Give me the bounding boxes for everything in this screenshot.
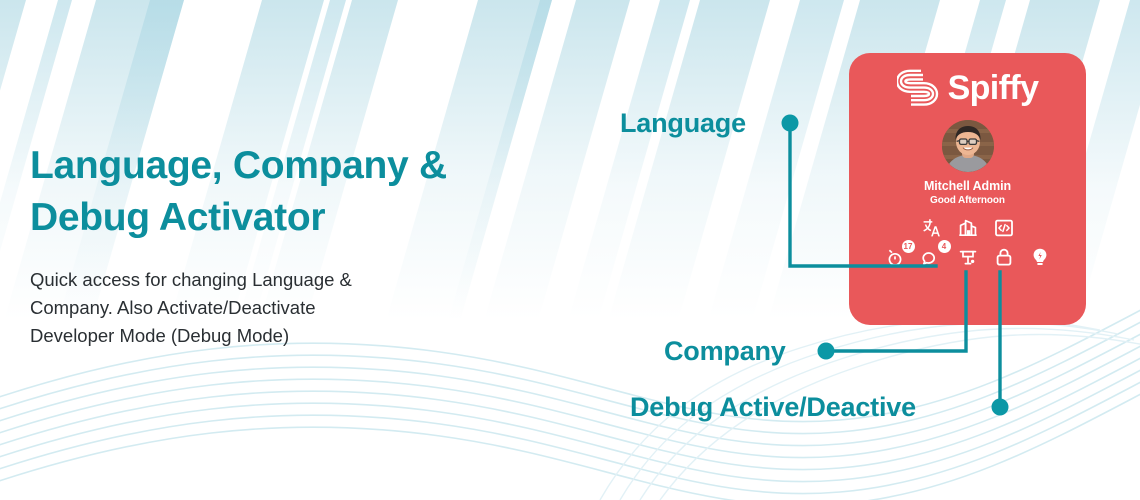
messages-chat-icon[interactable]: 4 — [922, 247, 942, 267]
lightbulb-icon[interactable] — [1030, 247, 1050, 267]
messages-badge: 4 — [938, 240, 951, 253]
debug-code-icon[interactable] — [994, 218, 1014, 238]
promo-banner: Language, Company & Debug Activator Quic… — [0, 0, 1140, 500]
page-title: Language, Company & Debug Activator — [30, 140, 530, 244]
user-block: Mitchell Admin Good Afternoon — [849, 120, 1086, 206]
company-building-icon[interactable] — [958, 218, 978, 238]
connector-dot-company — [818, 343, 835, 360]
spiffy-loop-logo-icon — [897, 68, 939, 108]
translate-icon[interactable] — [922, 218, 942, 238]
brand-name: Spiffy — [948, 71, 1039, 105]
callout-label-language: Language — [620, 108, 746, 139]
avatar-illustration — [942, 120, 994, 172]
tasks-board-icon[interactable] — [958, 247, 978, 267]
connector-dot-language — [782, 115, 799, 132]
user-avatar-photo[interactable] — [942, 120, 994, 172]
user-name: Mitchell Admin — [849, 179, 1086, 193]
brand-logo: Spiffy — [849, 53, 1086, 108]
activity-clock-icon[interactable]: 17 — [886, 247, 906, 267]
callout-label-company: Company — [664, 336, 786, 367]
user-greeting: Good Afternoon — [849, 195, 1086, 206]
lock-icon[interactable] — [994, 247, 1014, 267]
connector-dot-debug — [992, 399, 1009, 416]
page-subtitle: Quick access for changing Language & Com… — [30, 266, 530, 350]
hero-text-block: Language, Company & Debug Activator Quic… — [30, 140, 530, 350]
activity-badge: 17 — [902, 240, 915, 253]
callout-label-debug: Debug Active/Deactive — [630, 392, 916, 423]
primary-icon-row — [849, 218, 1086, 238]
secondary-icon-row: 17 4 — [849, 247, 1086, 267]
spiffy-app-card: Spiffy — [849, 53, 1086, 325]
